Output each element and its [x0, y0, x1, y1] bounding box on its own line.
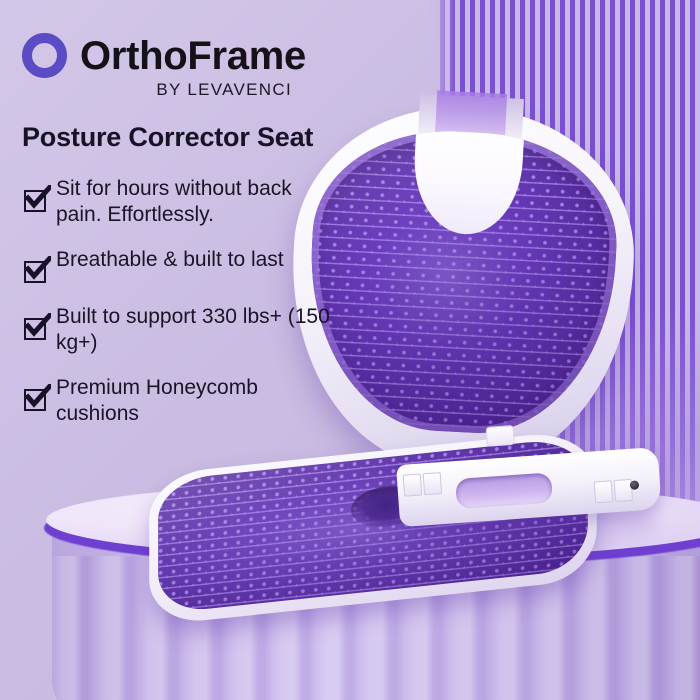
list-item: Sit for hours without back pain. Effortl…	[24, 176, 334, 227]
brand-logo: OrthoFrame	[22, 33, 306, 78]
bracket-tooth	[403, 474, 422, 497]
brand-byline: BY LEVAVENCI	[22, 80, 292, 100]
list-item: Built to support 330 lbs+ (150 kg+)	[24, 304, 334, 355]
feature-text: Premium Honeycomb cushions	[56, 375, 334, 426]
feature-text: Built to support 330 lbs+ (150 kg+)	[56, 304, 334, 355]
list-item: Breathable & built to last	[24, 247, 334, 284]
list-item: Premium Honeycomb cushions	[24, 375, 334, 426]
brand-name: OrthoFrame	[80, 36, 306, 76]
honeycomb-backrest-pad	[283, 99, 641, 476]
checkbox-checked-icon	[24, 187, 50, 213]
bracket-tooth	[423, 472, 442, 495]
checkbox-checked-icon	[24, 258, 50, 284]
bracket-tooth	[594, 480, 613, 503]
checkbox-checked-icon	[24, 315, 50, 341]
product-ad-canvas: OrthoFrame BY LEVAVENCI Posture Correcto…	[0, 0, 700, 700]
adjustment-hinge-bracket	[394, 421, 664, 557]
feature-text: Sit for hours without back pain. Effortl…	[56, 176, 334, 227]
feature-text: Breathable & built to last	[56, 247, 284, 273]
page-title: Posture Corrector Seat	[22, 122, 313, 153]
backrest-cushion	[303, 124, 622, 439]
bracket-tab	[486, 425, 515, 447]
feature-list: Sit for hours without back pain. Effortl…	[24, 176, 334, 447]
ring-icon	[22, 33, 67, 78]
checkbox-checked-icon	[24, 386, 50, 412]
